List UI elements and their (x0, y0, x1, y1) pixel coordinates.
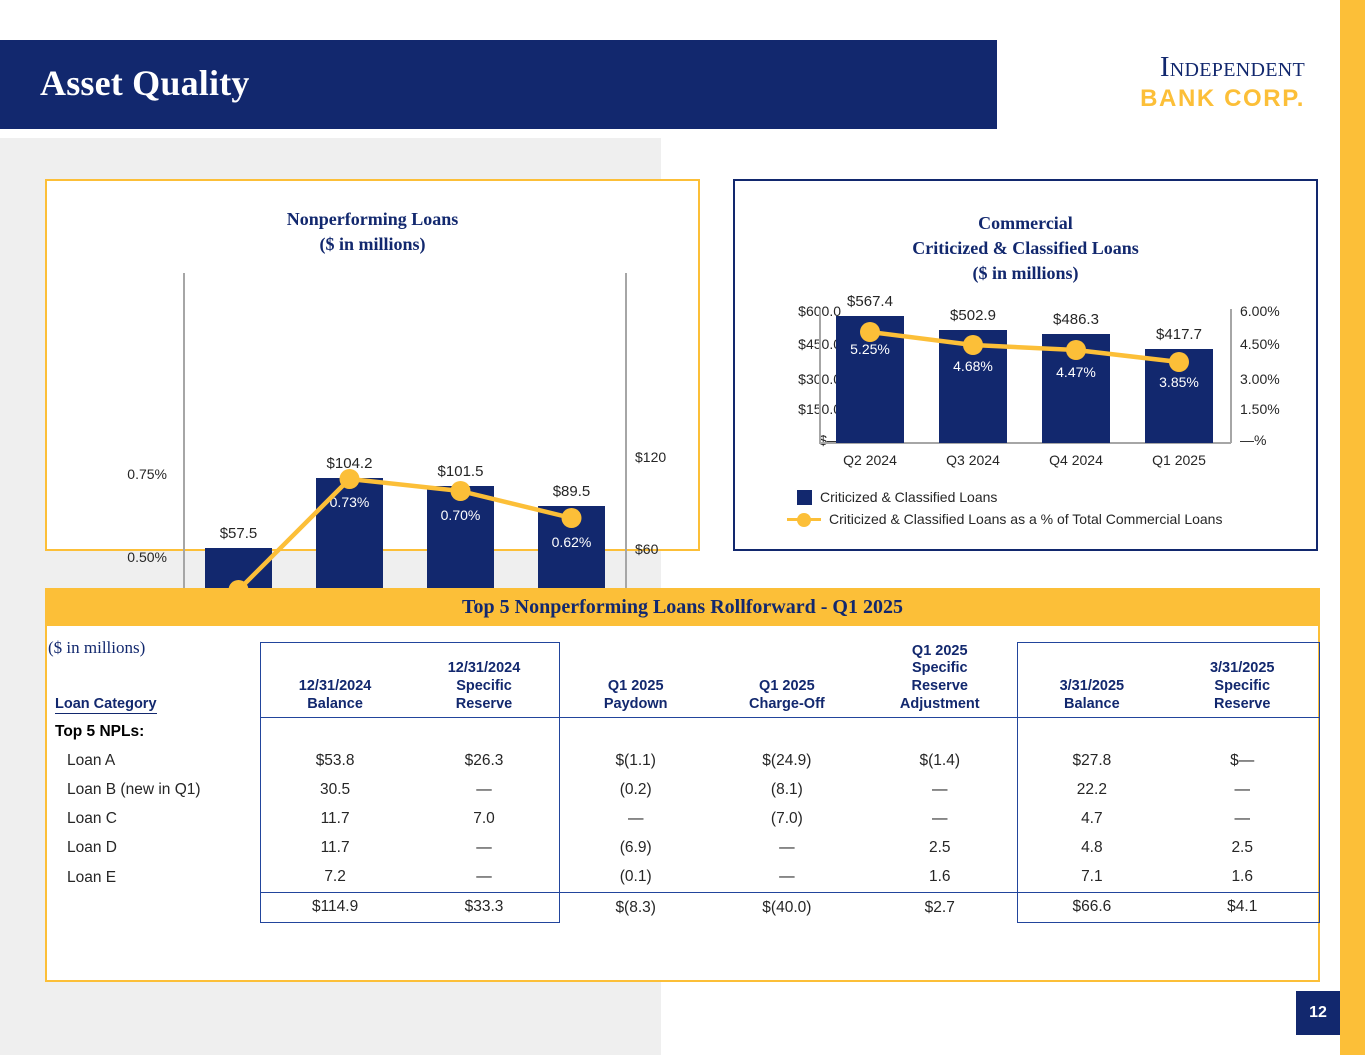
table-header-12312024-specific-reserve: 12/31/2024 Specific Reserve (409, 643, 559, 718)
cc-left-ytick-4: $— (735, 432, 841, 448)
rollforward-table-card: Loan Category 12/31/2024 Balance 12/31/2… (45, 588, 1320, 982)
cc-bar-q2-2024 (836, 316, 904, 443)
spacer-cell (559, 718, 711, 747)
spacer-cell (1018, 718, 1166, 747)
row-label-loan-c: Loan C (49, 805, 261, 834)
cell-loan-a-12312024-specific-reserve: $26.3 (409, 747, 559, 776)
cell-loan-d-12312024-balance: 11.7 (261, 834, 410, 863)
page-title: Asset Quality (40, 62, 250, 104)
npl-value-label-q1-2025: $89.5 (526, 483, 617, 500)
background-right-gold-stripe (1340, 0, 1365, 1055)
cc-legend-bar-label: Criticized & Classified Loans (820, 489, 997, 505)
cell-loan-e-q1-2025-charge-off: — (712, 863, 863, 893)
rollforward-table: Loan Category 12/31/2024 Balance 12/31/2… (49, 642, 1320, 923)
table-header-12312024-balance: 12/31/2024 Balance (261, 643, 410, 718)
npl-pct-label-q4-2024: 0.70% (427, 507, 494, 523)
npl-left-ytick-0: 0.75% (67, 466, 167, 482)
cell-loan-c-q1-2025-paydown: — (559, 805, 711, 834)
cc-left-ytick-2: $300.0 (735, 371, 841, 387)
units-note: ($ in millions) (48, 638, 145, 658)
cc-xtick-q2-2024: Q2 2024 (824, 452, 916, 468)
cc-pct-label-q1-2025: 3.85% (1145, 374, 1213, 390)
npl-pct-label-q3-2024: 0.73% (316, 494, 383, 510)
cell-loan-a-3312025-balance: $27.8 (1018, 747, 1166, 776)
cc-right-ytick-1: 4.50% (1240, 336, 1318, 352)
company-logo: Independent BANK CORP. (1030, 52, 1305, 114)
cell-loan-c-q1-2025-charge-off: (7.0) (712, 805, 863, 834)
cell-loan-a-3312025-specific-reserve: $— (1165, 747, 1319, 776)
npl-value-label-q4-2024: $101.5 (415, 463, 506, 480)
cell-loan-d-q1-2025-reserve-adjustment: 2.5 (862, 834, 1018, 863)
spacer-cell (261, 718, 410, 747)
cc-left-ytick-3: $150.0 (735, 401, 841, 417)
table-row: Loan C 11.7 7.0 — (7.0) — 4.7 — (49, 805, 1320, 834)
cc-value-label-q4-2024: $486.3 (1030, 311, 1122, 328)
totals-label (49, 892, 261, 922)
table-totals-row: $114.9 $33.3 $(8.3) $(40.0) $2.7 $66.6 $… (49, 892, 1320, 922)
chart-plot-criticized-classified: $600.0 $450.0 $300.0 $150.0 $— 6.00% 4.5… (735, 181, 1316, 549)
cc-bar-q3-2024 (939, 330, 1007, 443)
row-label-loan-e: Loan E (49, 863, 261, 893)
total-q1-2025-charge-off: $(40.0) (712, 892, 863, 922)
total-12312024-specific-reserve: $33.3 (409, 892, 559, 922)
cell-loan-b-3312025-specific-reserve: — (1165, 776, 1319, 805)
total-q1-2025-paydown: $(8.3) (559, 892, 711, 922)
cell-loan-e-3312025-balance: 7.1 (1018, 863, 1166, 893)
cell-loan-d-q1-2025-paydown: (6.9) (559, 834, 711, 863)
cell-loan-a-q1-2025-paydown: $(1.1) (559, 747, 711, 776)
spacer-cell (712, 718, 863, 747)
cc-pct-label-q2-2024: 5.25% (836, 341, 904, 357)
table-section-row: Top 5 NPLs: (49, 718, 1320, 747)
cell-loan-c-3312025-balance: 4.7 (1018, 805, 1166, 834)
cc-right-ytick-3: 1.50% (1240, 401, 1318, 417)
table-header-row: Loan Category 12/31/2024 Balance 12/31/2… (49, 643, 1320, 718)
spacer-cell (409, 718, 559, 747)
cc-xtick-q4-2024: Q4 2024 (1030, 452, 1122, 468)
spacer-cell (1165, 718, 1319, 747)
cc-xtick-q1-2025: Q1 2025 (1133, 452, 1225, 468)
cc-left-ytick-1: $450.0 (735, 336, 841, 352)
cc-value-label-q2-2024: $567.4 (824, 293, 916, 310)
chart-card-nonperforming-loans: Nonperforming Loans ($ in millions) 0.75… (45, 179, 700, 551)
cc-legend-bar-swatch-icon (797, 490, 812, 505)
cell-loan-a-q1-2025-charge-off: $(24.9) (712, 747, 863, 776)
slide: Asset Quality Independent BANK CORP. Non… (0, 0, 1365, 1055)
table-header-q1-2025-paydown: Q1 2025 Paydown (559, 643, 711, 718)
table-header-q1-2025-charge-off: Q1 2025 Charge-Off (712, 643, 863, 718)
cc-legend-bar: Criticized & Classified Loans (797, 489, 997, 505)
cell-loan-b-q1-2025-charge-off: (8.1) (712, 776, 863, 805)
chart-plot-nonperforming-loans: 0.75% 0.50% 0.25% $120 $60 $0 $57.5 $104… (47, 181, 698, 549)
total-3312025-specific-reserve: $4.1 (1165, 892, 1319, 922)
cc-value-label-q3-2024: $502.9 (927, 307, 1019, 324)
total-3312025-balance: $66.6 (1018, 892, 1166, 922)
cell-loan-c-3312025-specific-reserve: — (1165, 805, 1319, 834)
cell-loan-b-3312025-balance: 22.2 (1018, 776, 1166, 805)
rollforward-table-banner-text: Top 5 Nonperforming Loans Rollforward - … (462, 596, 903, 619)
table-row: Loan B (new in Q1) 30.5 — (0.2) (8.1) — … (49, 776, 1320, 805)
npl-pct-label-q1-2025: 0.62% (538, 534, 605, 550)
cc-legend-line-marker-icon (787, 512, 821, 526)
cell-loan-a-q1-2025-reserve-adjustment: $(1.4) (862, 747, 1018, 776)
cc-axis-left (819, 309, 821, 443)
npl-right-ytick-1: $60 (635, 541, 705, 557)
table-header-3312025-specific-reserve: 3/31/2025 Specific Reserve (1165, 643, 1319, 718)
cell-loan-e-q1-2025-reserve-adjustment: 1.6 (862, 863, 1018, 893)
row-label-loan-b: Loan B (new in Q1) (49, 776, 261, 805)
cc-bar-q4-2024 (1042, 334, 1110, 443)
cell-loan-d-12312024-specific-reserve: — (409, 834, 559, 863)
cc-legend-line: Criticized & Classified Loans as a % of … (787, 511, 1222, 527)
total-12312024-balance: $114.9 (261, 892, 410, 922)
cell-loan-c-12312024-balance: 11.7 (261, 805, 410, 834)
cc-xtick-q3-2024: Q3 2024 (927, 452, 1019, 468)
cc-bar-q1-2025 (1145, 349, 1213, 443)
table-row: Loan D 11.7 — (6.9) — 2.5 4.8 2.5 (49, 834, 1320, 863)
cell-loan-c-12312024-specific-reserve: 7.0 (409, 805, 559, 834)
npl-right-ytick-0: $120 (635, 449, 705, 465)
cc-pct-label-q4-2024: 4.47% (1042, 364, 1110, 380)
cell-loan-e-12312024-specific-reserve: — (409, 863, 559, 893)
spacer-cell (862, 718, 1018, 747)
cell-loan-a-12312024-balance: $53.8 (261, 747, 410, 776)
cell-loan-d-q1-2025-charge-off: — (712, 834, 863, 863)
cell-loan-d-3312025-specific-reserve: 2.5 (1165, 834, 1319, 863)
cc-value-label-q1-2025: $417.7 (1133, 326, 1225, 343)
page-number-badge: 12 (1296, 991, 1340, 1035)
cell-loan-b-q1-2025-paydown: (0.2) (559, 776, 711, 805)
cell-loan-b-12312024-specific-reserve: — (409, 776, 559, 805)
table-header-3312025-balance: 3/31/2025 Balance (1018, 643, 1166, 718)
cell-loan-e-q1-2025-paydown: (0.1) (559, 863, 711, 893)
cc-right-ytick-2: 3.00% (1240, 371, 1318, 387)
table-row: Loan A $53.8 $26.3 $(1.1) $(24.9) $(1.4)… (49, 747, 1320, 776)
chart-card-criticized-classified: Commercial Criticized & Classified Loans… (733, 179, 1318, 551)
cc-right-ytick-4: —% (1240, 432, 1318, 448)
row-label-loan-d: Loan D (49, 834, 261, 863)
table-header-q1-2025-specific-reserve-adjustment: Q1 2025 Specific Reserve Adjustment (862, 643, 1018, 718)
cell-loan-d-3312025-balance: 4.8 (1018, 834, 1166, 863)
row-label-loan-a: Loan A (49, 747, 261, 776)
logo-wordmark-primary: Independent (1030, 52, 1305, 82)
cell-loan-b-q1-2025-reserve-adjustment: — (862, 776, 1018, 805)
cell-loan-e-3312025-specific-reserve: 1.6 (1165, 863, 1319, 893)
cell-loan-e-12312024-balance: 7.2 (261, 863, 410, 893)
cc-pct-label-q3-2024: 4.68% (939, 358, 1007, 374)
cc-legend-line-label: Criticized & Classified Loans as a % of … (829, 511, 1222, 527)
table-row: Loan E 7.2 — (0.1) — 1.6 7.1 1.6 (49, 863, 1320, 893)
cell-loan-c-q1-2025-reserve-adjustment: — (862, 805, 1018, 834)
total-q1-2025-reserve-adjustment: $2.7 (862, 892, 1018, 922)
cc-right-ytick-0: 6.00% (1240, 303, 1318, 319)
logo-wordmark-secondary: BANK CORP. (1030, 85, 1305, 114)
npl-value-label-q2-2024: $57.5 (193, 525, 284, 542)
background-right-white-strip (1320, 0, 1340, 1055)
npl-value-label-q3-2024: $104.2 (304, 455, 395, 472)
table-section-label: Top 5 NPLs: (49, 718, 261, 747)
cell-loan-b-12312024-balance: 30.5 (261, 776, 410, 805)
rollforward-table-banner: Top 5 Nonperforming Loans Rollforward - … (45, 588, 1320, 626)
npl-left-ytick-1: 0.50% (67, 549, 167, 565)
cc-axis-right (1230, 309, 1232, 443)
